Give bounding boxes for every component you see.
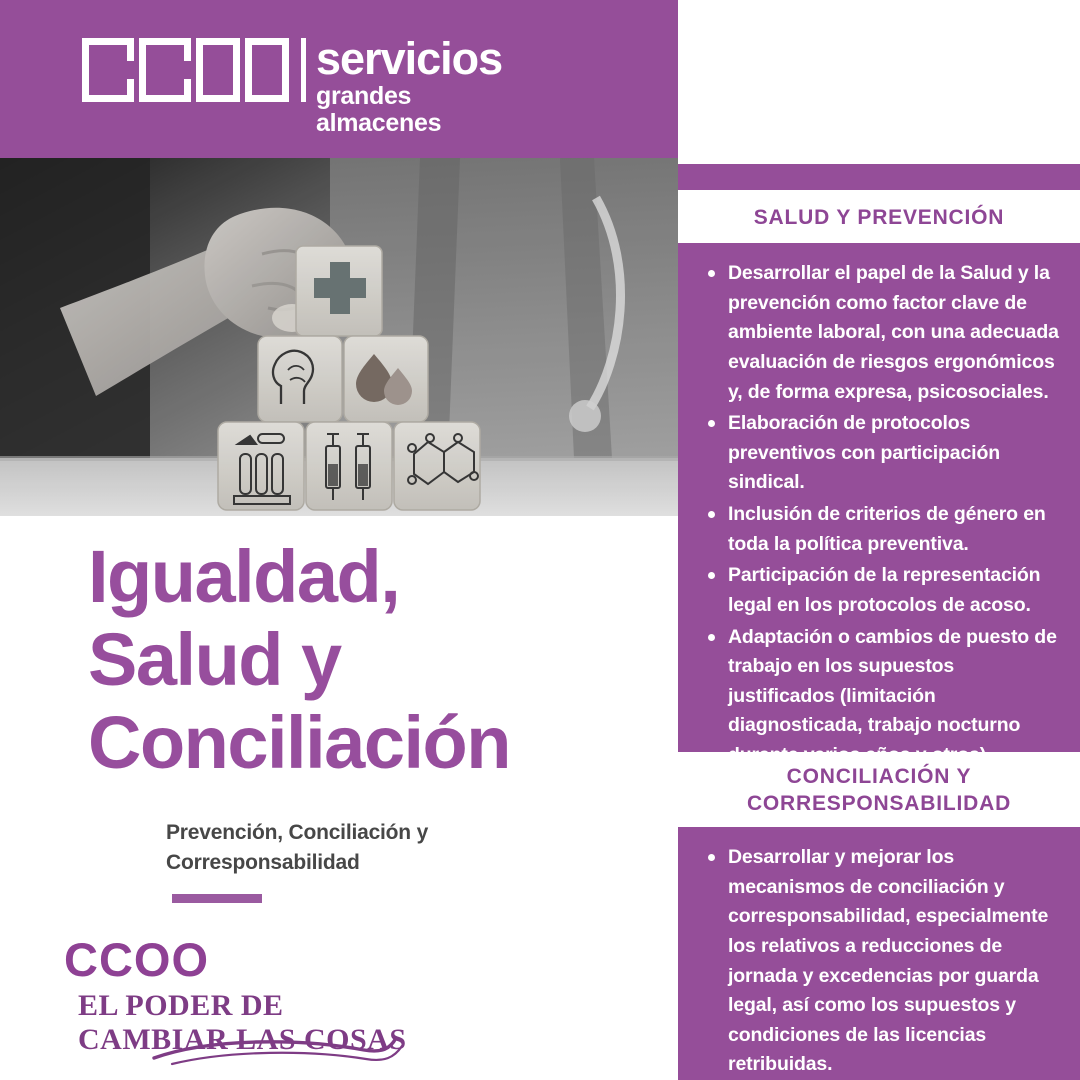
poster-root: servicios grandes almacenes — [0, 0, 1080, 1080]
ccoo-letter-c-2-icon — [139, 38, 191, 102]
logo-divider — [301, 38, 306, 102]
bullet-list-salud-prevencion: Desarrollar el papel de la Salud y la pr… — [702, 259, 1060, 771]
list-item: Adaptación o cambios de puesto de trabaj… — [728, 623, 1060, 771]
brand-name-grandes: grandes — [316, 83, 502, 110]
subtitle-divider — [172, 894, 262, 903]
hero-photo — [0, 158, 678, 516]
page-title: Igualdad, Salud y Conciliación — [88, 536, 668, 785]
footer-slogan-line-1: EL PODER DE — [78, 989, 484, 1023]
subtitle-line-1: Prevención, Conciliación y — [166, 818, 586, 848]
right-column: SALUD Y PREVENCIÓN Desarrollar el papel … — [678, 0, 1080, 1080]
section-body-salud-prevencion: Desarrollar el papel de la Salud y la pr… — [678, 243, 1080, 752]
section-body-conciliacion: Desarrollar y mejorar los mecanismos de … — [678, 827, 1080, 1080]
ccoo-letter-o-1-icon — [196, 38, 240, 102]
list-item: Elaboración de protocolos preventivos co… — [728, 409, 1060, 498]
list-item: Desarrollar y mejorar los mecanismos de … — [728, 843, 1060, 1080]
ccoo-letter-o-2-icon — [245, 38, 289, 102]
brand-name-servicios: servicios — [316, 38, 502, 81]
right-column-top-bar — [678, 164, 1080, 190]
main-title-line-2: Salud y — [88, 619, 668, 702]
brand-name-almacenes: almacenes — [316, 110, 502, 137]
footer-ccoo-wordmark: CCOO — [64, 936, 484, 983]
brand-text: servicios grandes almacenes — [316, 38, 502, 137]
ccoo-logo-mark — [82, 38, 289, 102]
subtitle-line-2: Corresponsabilidad — [166, 848, 586, 878]
ccoo-letter-c-1-icon — [82, 38, 134, 102]
section-heading-conciliacion: CONCILIACIÓN Y CORRESPONSABILIDAD — [678, 764, 1080, 818]
list-item: Inclusión de criterios de género en toda… — [728, 500, 1060, 559]
bullet-list-conciliacion: Desarrollar y mejorar los mecanismos de … — [702, 843, 1060, 1080]
ccoo-servicios-logo: servicios grandes almacenes — [82, 38, 502, 137]
list-item: Desarrollar el papel de la Salud y la pr… — [728, 259, 1060, 407]
section-heading-line-1: CONCILIACIÓN Y — [678, 764, 1080, 791]
slogan-swoosh-icon — [150, 1032, 420, 1068]
section-heading-line-2: CORRESPONSABILIDAD — [678, 791, 1080, 818]
list-item: Participación de la representación legal… — [728, 561, 1060, 620]
main-title: Igualdad, Salud y Conciliación — [88, 536, 668, 785]
section-heading-salud-prevencion: SALUD Y PREVENCIÓN — [678, 205, 1080, 232]
main-title-line-3: Conciliación — [88, 702, 668, 785]
main-title-line-1: Igualdad, — [88, 536, 668, 619]
subtitle: Prevención, Conciliación y Corresponsabi… — [166, 818, 586, 878]
